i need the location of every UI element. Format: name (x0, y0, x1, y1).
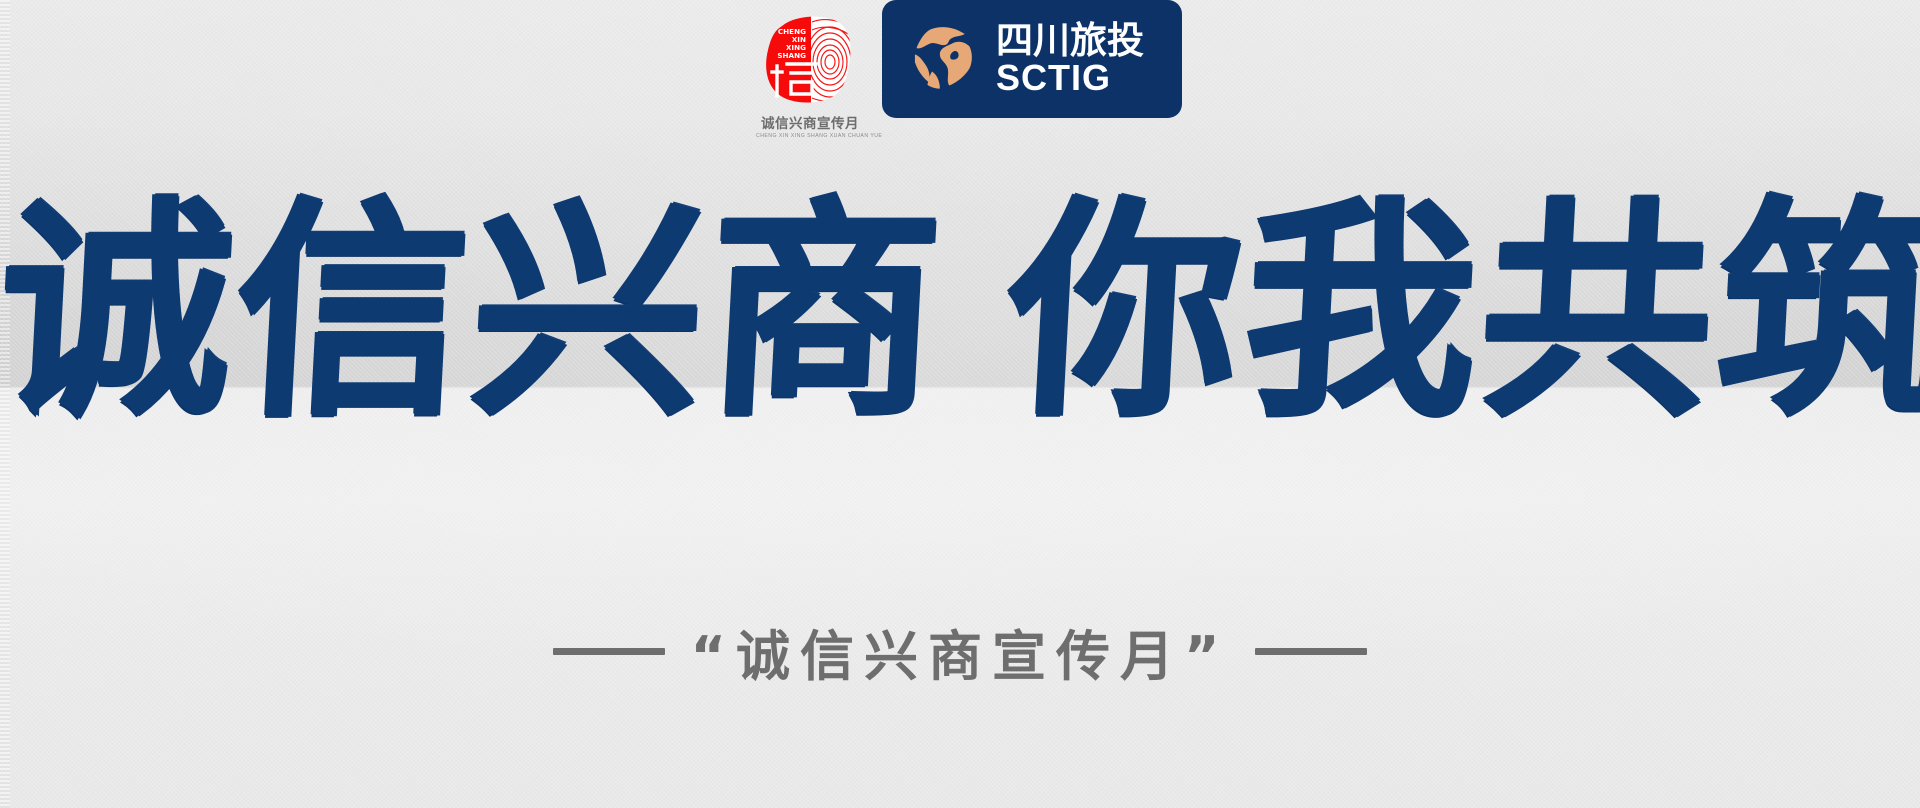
sctig-name-cn: 四川旅投 (996, 21, 1144, 61)
svg-text:SHANG: SHANG (777, 51, 806, 60)
subtitle-rule-right (1255, 648, 1367, 655)
sctig-name-en: SCTIG (996, 60, 1144, 97)
promo-banner: CHENG XIN XING SHANG 诚信兴商宣传月 (0, 0, 1920, 808)
headline-part-2: 你我共筑 (1003, 196, 1920, 428)
fingerprint-seal-icon: CHENG XIN XING SHANG (760, 10, 860, 110)
headline-part-1: 诚信兴商 (0, 196, 950, 428)
subtitle-row: “诚信兴商宣传月” (0, 612, 1920, 691)
subtitle-rule-left (553, 648, 665, 655)
headline: 诚信兴商 你我共筑 (0, 196, 1920, 428)
logo-row: CHENG XIN XING SHANG 诚信兴商宣传月 (756, 0, 1182, 139)
globe-icon (904, 20, 982, 98)
subtitle-text: “诚信兴商宣传月” (691, 612, 1230, 691)
sctig-logo: 四川旅投 SCTIG (882, 0, 1182, 118)
chengxin-seal-logo: CHENG XIN XING SHANG 诚信兴商宣传月 (756, 0, 864, 139)
sctig-wordmark: 四川旅投 SCTIG (996, 21, 1144, 97)
seal-caption-pinyin: CHENG XIN XING SHANG XUAN CHUAN YUE (756, 133, 864, 139)
seal-caption-cn: 诚信兴商宣传月 (756, 112, 864, 132)
